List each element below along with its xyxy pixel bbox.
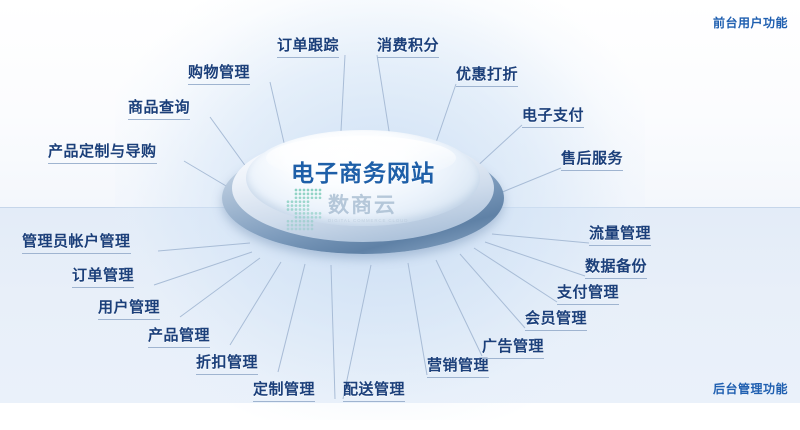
backend-label[interactable]: 广告管理 bbox=[482, 335, 544, 359]
frontend-label[interactable]: 商品查询 bbox=[128, 96, 190, 120]
watermark-logo: 数商云 DIGITAL COMMERCE CLOUD bbox=[284, 186, 454, 232]
frontend-label[interactable]: 电子支付 bbox=[522, 104, 584, 128]
backend-label[interactable]: 管理员帐户管理 bbox=[22, 230, 131, 254]
connector-line bbox=[460, 254, 525, 328]
center-title: 电子商务网站 bbox=[222, 154, 504, 188]
backend-label[interactable]: 订单管理 bbox=[72, 264, 134, 288]
backend-label[interactable]: 产品管理 bbox=[148, 324, 210, 348]
frontend-label[interactable]: 优惠打折 bbox=[456, 63, 518, 87]
frontend-label[interactable]: 订单跟踪 bbox=[277, 34, 339, 58]
watermark-text: 数商云 DIGITAL COMMERCE CLOUD bbox=[328, 195, 408, 223]
connector-line bbox=[278, 264, 305, 372]
watermark-en: DIGITAL COMMERCE CLOUD bbox=[328, 219, 408, 223]
backend-section-caption: 后台管理功能 bbox=[713, 380, 788, 397]
center-disc: 电子商务网站 数商云 DIGITAL COMMERCE CLOUD bbox=[222, 128, 504, 258]
frontend-section-caption: 前台用户功能 bbox=[713, 14, 788, 31]
backend-label[interactable]: 用户管理 bbox=[98, 296, 160, 320]
connector-line bbox=[180, 258, 260, 317]
diagram-canvas: 电子商务网站 数商云 DIGITAL COMMERCE CLOUD 产品定制与导… bbox=[0, 0, 800, 430]
backend-label[interactable]: 支付管理 bbox=[557, 281, 619, 305]
backend-label[interactable]: 数据备份 bbox=[585, 255, 647, 279]
watermark-cn: 数商云 bbox=[328, 195, 408, 216]
frontend-label[interactable]: 售后服务 bbox=[561, 147, 623, 171]
connector-line bbox=[331, 265, 335, 399]
backend-label[interactable]: 定制管理 bbox=[253, 378, 315, 402]
frontend-label[interactable]: 购物管理 bbox=[188, 61, 250, 85]
connector-line bbox=[436, 260, 482, 356]
connector-line bbox=[492, 234, 589, 243]
frontend-label[interactable]: 产品定制与导购 bbox=[48, 140, 157, 164]
backend-label[interactable]: 会员管理 bbox=[525, 307, 587, 331]
backend-label[interactable]: 折扣管理 bbox=[196, 351, 258, 375]
dot-cloud-icon bbox=[284, 187, 324, 231]
connector-line bbox=[408, 263, 427, 375]
backend-label[interactable]: 配送管理 bbox=[343, 378, 405, 402]
backend-label[interactable]: 流量管理 bbox=[589, 222, 651, 246]
frontend-label[interactable]: 消费积分 bbox=[377, 34, 439, 58]
backend-label[interactable]: 营销管理 bbox=[427, 354, 489, 378]
